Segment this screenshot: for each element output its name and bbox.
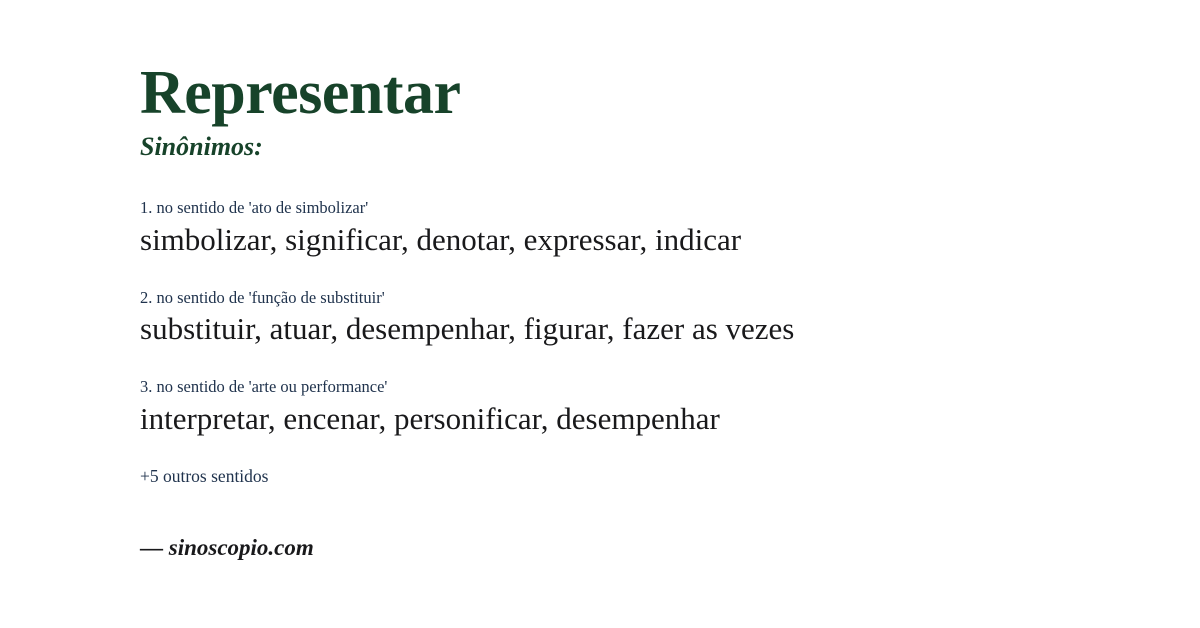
sense-synonyms: interpretar, encenar, personificar, dese… bbox=[140, 402, 1140, 437]
sense-synonyms: simbolizar, significar, denotar, express… bbox=[140, 223, 1140, 258]
sense-label: 1. no sentido de 'ato de simbolizar' bbox=[140, 198, 1140, 219]
sense-block: 1. no sentido de 'ato de simbolizar' sim… bbox=[140, 198, 1140, 257]
sense-block: 3. no sentido de 'arte ou performance' i… bbox=[140, 377, 1140, 436]
attribution: — sinoscopio.com bbox=[140, 535, 1140, 561]
synonym-card: Representar Sinônimos: 1. no sentido de … bbox=[0, 0, 1200, 628]
sense-block: 2. no sentido de 'função de substituir' … bbox=[140, 288, 1140, 347]
sense-label: 2. no sentido de 'função de substituir' bbox=[140, 288, 1140, 309]
subtitle-synonyms-heading: Sinônimos: bbox=[140, 131, 1140, 162]
page-title: Representar bbox=[140, 62, 1140, 125]
more-senses-count: +5 outros sentidos bbox=[140, 466, 1140, 487]
senses-list: 1. no sentido de 'ato de simbolizar' sim… bbox=[140, 198, 1140, 436]
em-dash-icon: — bbox=[140, 535, 163, 560]
sense-synonyms: substituir, atuar, desempenhar, figurar,… bbox=[140, 312, 1140, 347]
attribution-source: sinoscopio.com bbox=[169, 535, 314, 560]
sense-label: 3. no sentido de 'arte ou performance' bbox=[140, 377, 1140, 398]
